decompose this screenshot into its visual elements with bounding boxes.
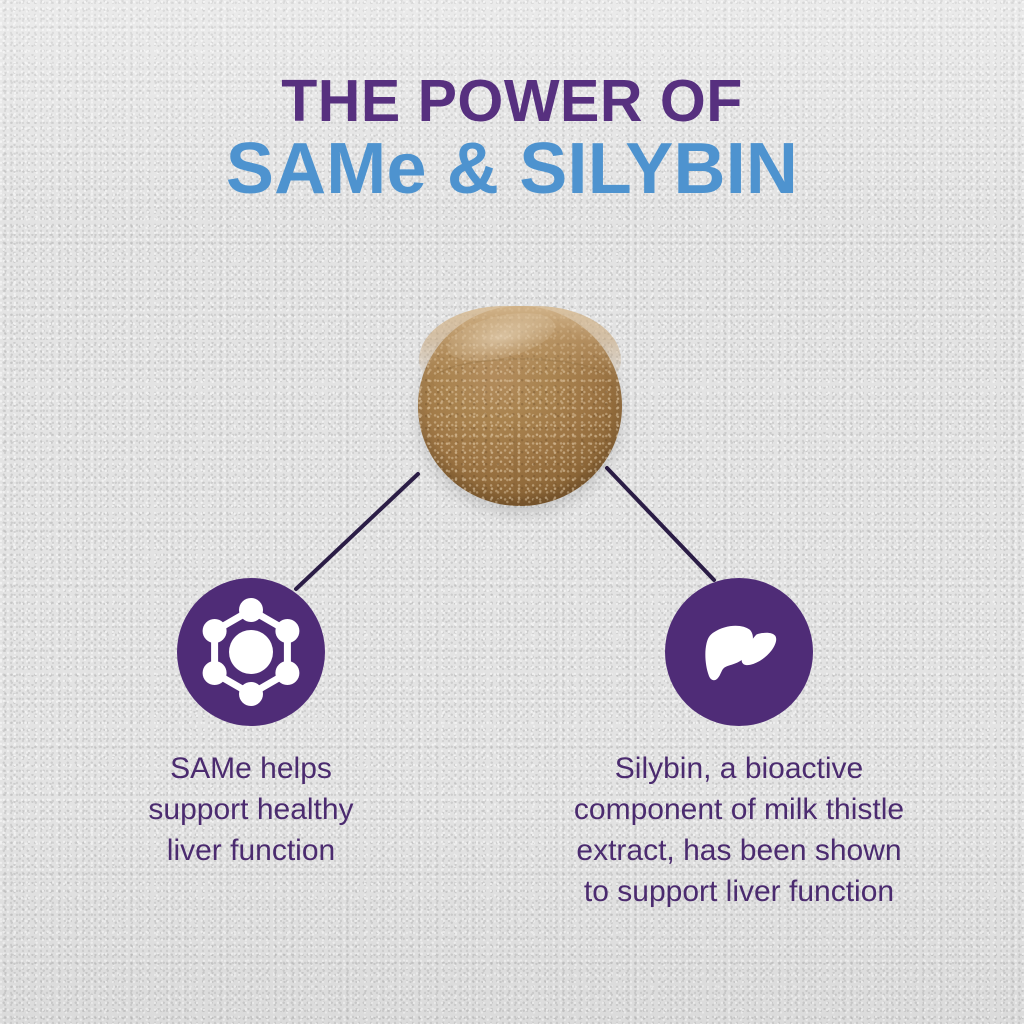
liver-icon <box>683 596 795 708</box>
title-line-secondary: SAMe & SILYBIN <box>0 132 1024 206</box>
feature-caption-same: SAMe helps support healthy liver functio… <box>83 748 419 871</box>
tablet-rim-edge <box>432 358 610 404</box>
page-title: THE POWER OF SAMe & SILYBIN <box>0 70 1024 206</box>
tablet-body <box>418 306 622 506</box>
tablet-seam <box>514 410 517 490</box>
feature-badge-same <box>177 578 325 726</box>
molecule-icon <box>195 596 307 708</box>
connector-line-right <box>607 468 714 580</box>
product-tablet-image <box>418 306 622 506</box>
feature-badge-silybin <box>665 578 813 726</box>
connector-line-left <box>296 474 418 589</box>
title-line-primary: THE POWER OF <box>0 70 1024 132</box>
infographic-canvas: THE POWER OF SAMe & SILYBIN <box>0 0 1024 1024</box>
feature-caption-silybin: Silybin, a bioactive component of milk t… <box>504 748 974 912</box>
